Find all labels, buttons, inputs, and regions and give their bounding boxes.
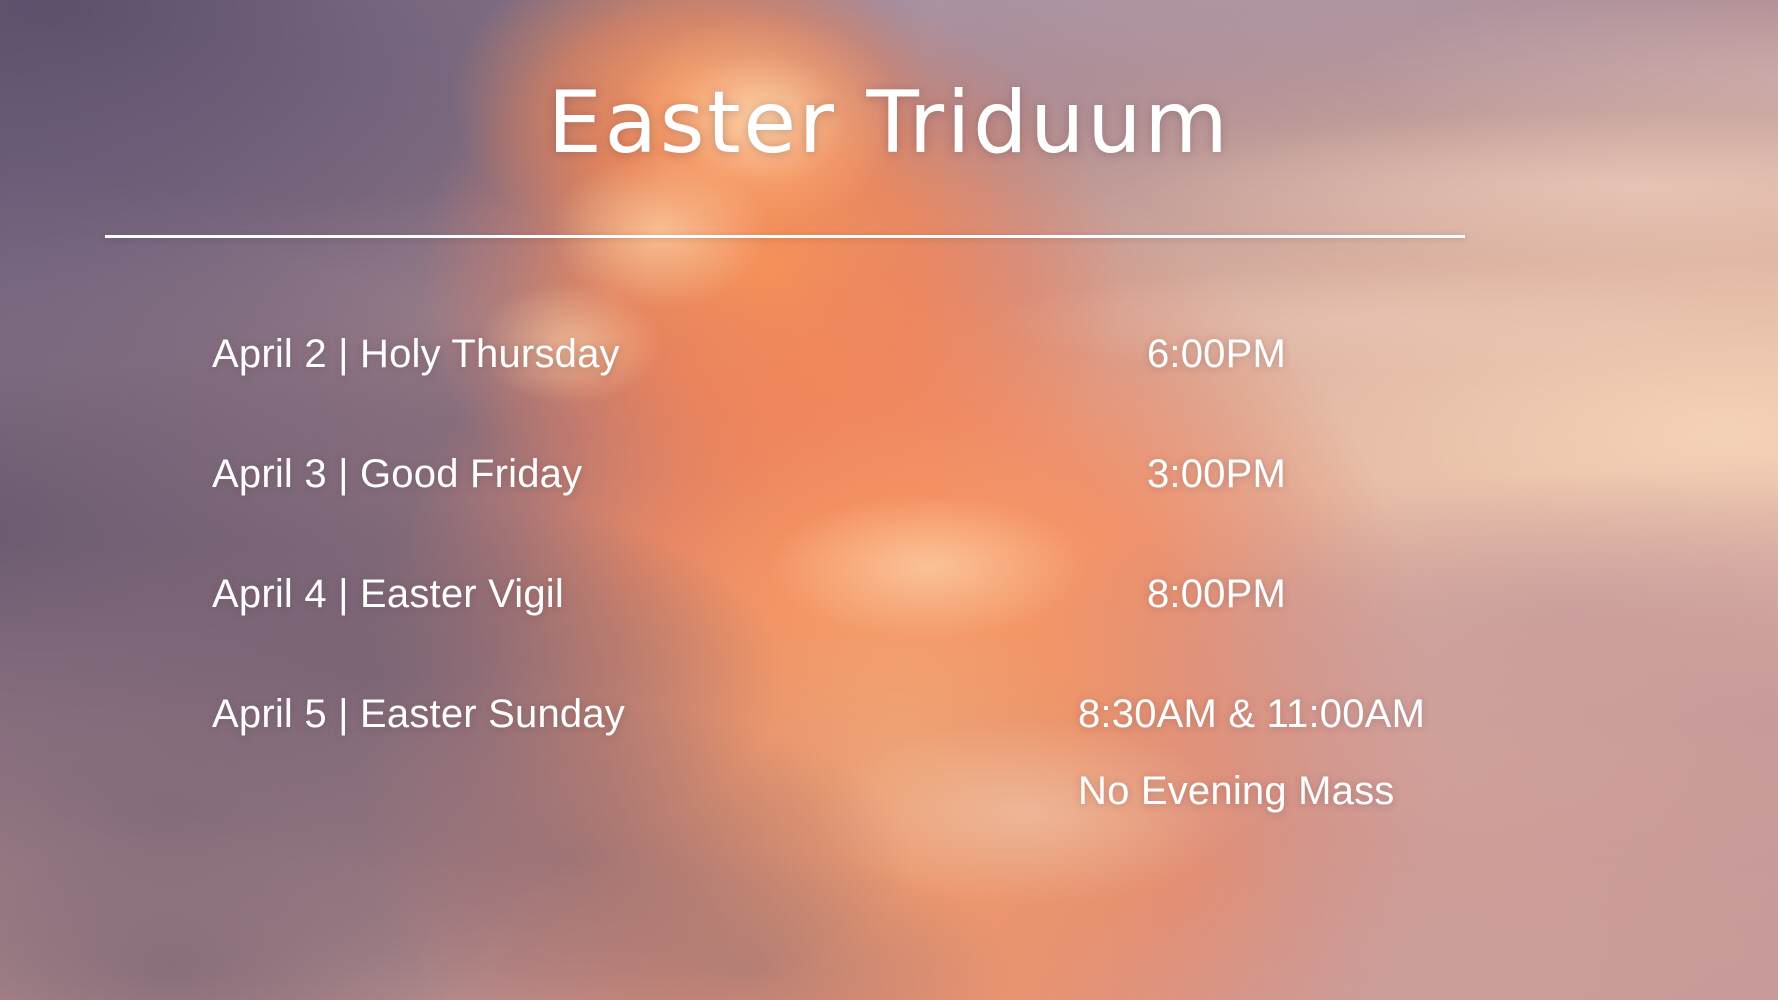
- slide-content: Easter Triduum April 2 | Holy Thursday 6…: [0, 0, 1778, 1000]
- title-divider-rule: [105, 235, 1465, 238]
- schedule-row-times: 8:30AM & 11:00AM No Evening Mass: [1078, 690, 1778, 816]
- service-schedule-list: April 2 | Holy Thursday 6:00PM April 3 |…: [212, 330, 1286, 810]
- schedule-row: April 2 | Holy Thursday 6:00PM: [212, 330, 1286, 450]
- schedule-row-time: 8:30AM & 11:00AM: [1078, 690, 1286, 739]
- easter-triduum-slide: Easter Triduum April 2 | Holy Thursday 6…: [0, 0, 1778, 1000]
- schedule-row: April 4 | Easter Vigil 8:00PM: [212, 570, 1286, 690]
- schedule-row-label: April 4 | Easter Vigil: [212, 570, 564, 619]
- schedule-row-time: 3:00PM: [1078, 450, 1286, 499]
- schedule-row-times: 6:00PM: [1078, 330, 1778, 379]
- schedule-row: April 5 | Easter Sunday 8:30AM & 11:00AM…: [212, 690, 1286, 810]
- schedule-row-label: April 2 | Holy Thursday: [212, 330, 620, 379]
- schedule-row-times: 8:00PM: [1078, 570, 1778, 619]
- schedule-row-time-note: No Evening Mass: [1078, 767, 1286, 816]
- schedule-row-time: 8:00PM: [1078, 570, 1286, 619]
- slide-title: Easter Triduum: [0, 78, 1778, 168]
- schedule-row: April 3 | Good Friday 3:00PM: [212, 450, 1286, 570]
- schedule-row-label: April 5 | Easter Sunday: [212, 690, 625, 739]
- schedule-row-times: 3:00PM: [1078, 450, 1778, 499]
- schedule-row-time: 6:00PM: [1078, 330, 1286, 379]
- schedule-row-label: April 3 | Good Friday: [212, 450, 582, 499]
